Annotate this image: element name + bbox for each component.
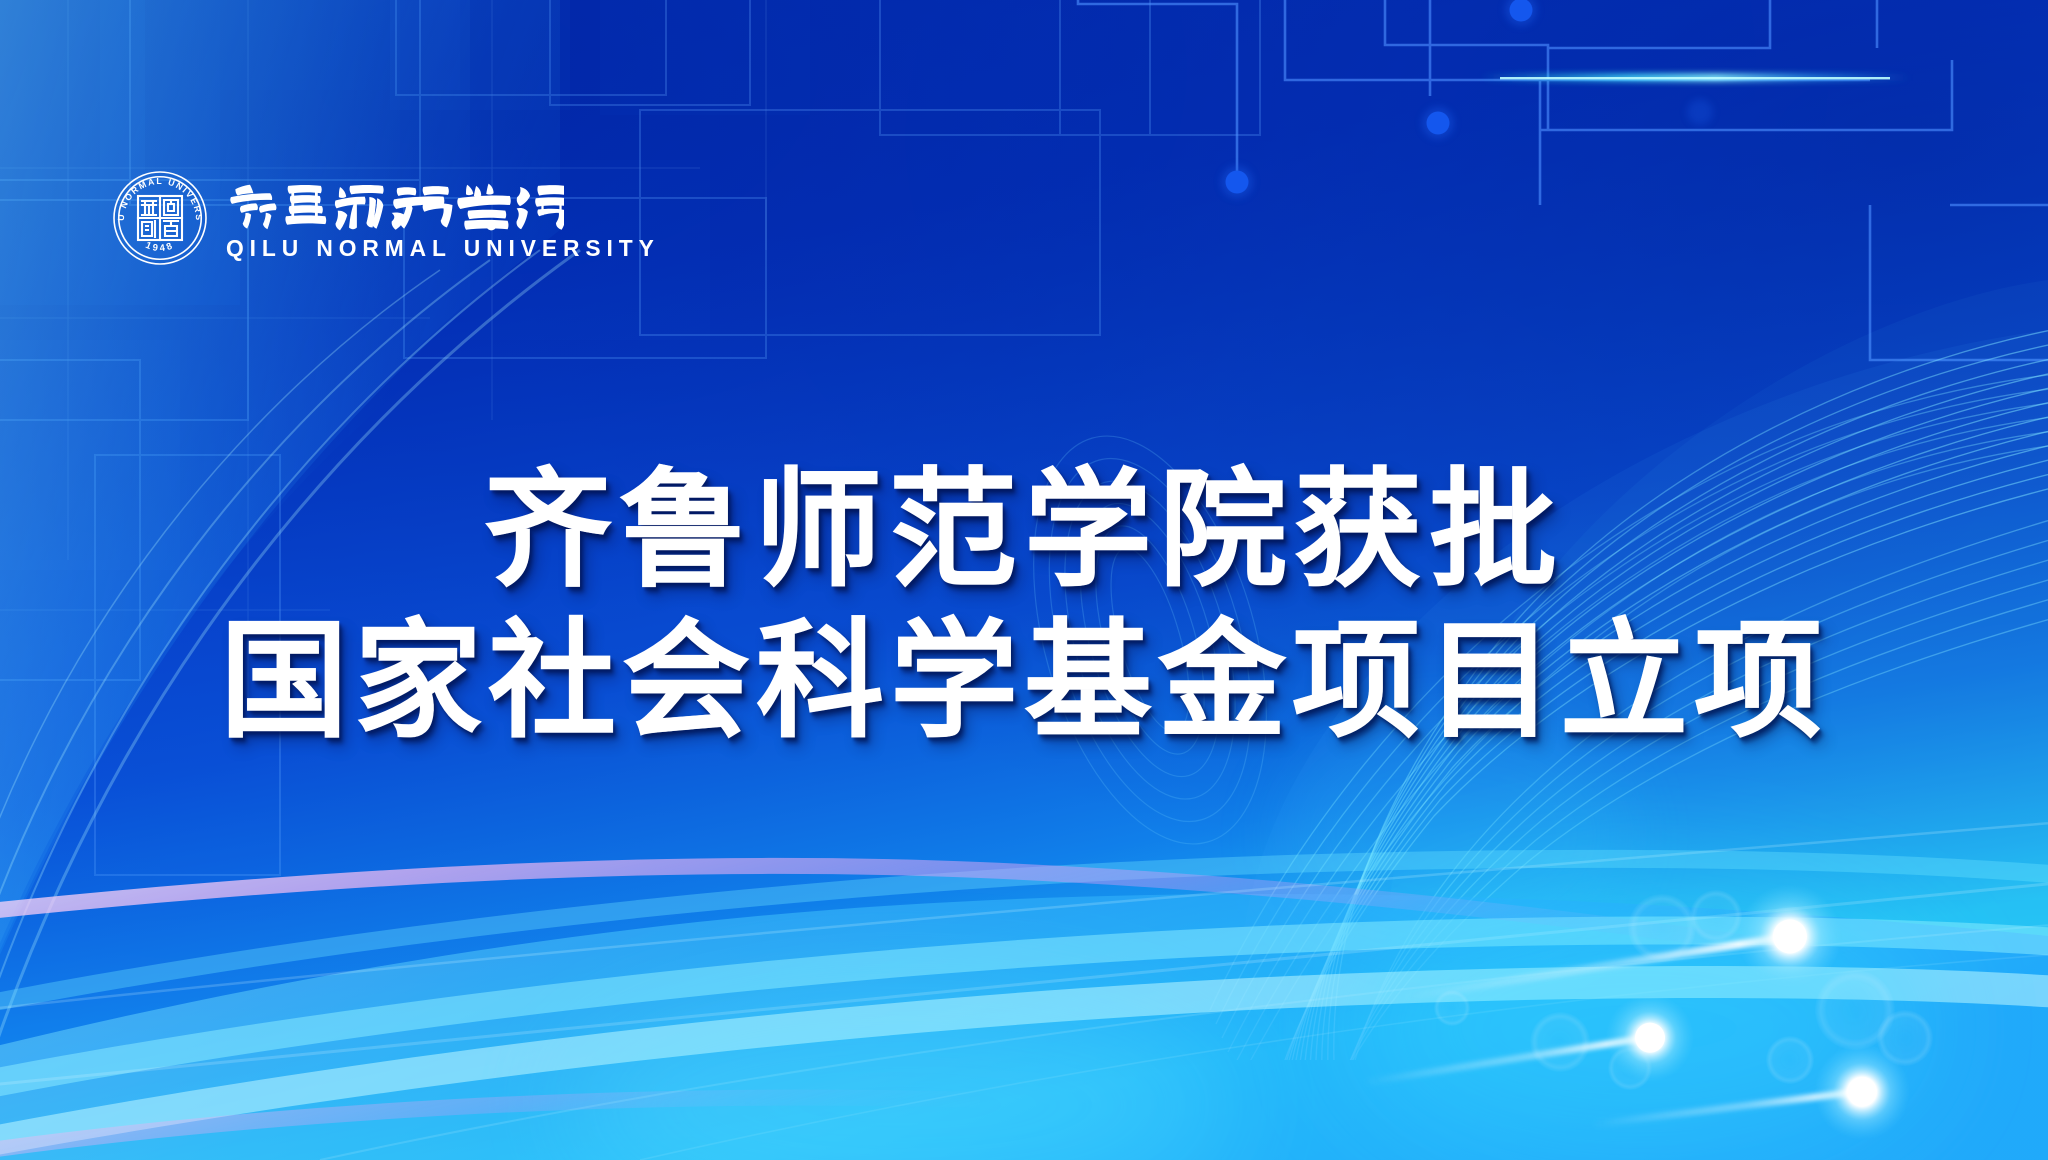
svg-text:1948: 1948: [144, 240, 176, 254]
seal-monogram-icon: [138, 196, 182, 240]
logo-wordmark-en: QILU NORMAL UNIVERSITY: [226, 237, 660, 261]
headline-line-2: 国家社会科学基金项目立项: [0, 606, 2048, 757]
university-logo: QILU NORMAL UNIVERSITY 1948: [110, 168, 673, 268]
banner-canvas: QILU NORMAL UNIVERSITY 1948: [0, 0, 2048, 1160]
logo-wordmark: QILU NORMAL UNIVERSITY: [224, 178, 673, 261]
headline: 齐鲁师范学院获批 国家社会科学基金项目立项: [0, 455, 2048, 757]
seal-year-text: 1948: [144, 240, 176, 254]
headline-line-1: 齐鲁师范学院获批: [0, 455, 2048, 606]
university-seal-icon: QILU NORMAL UNIVERSITY 1948: [110, 168, 210, 268]
logo-wordmark-cn-icon: [224, 178, 564, 232]
